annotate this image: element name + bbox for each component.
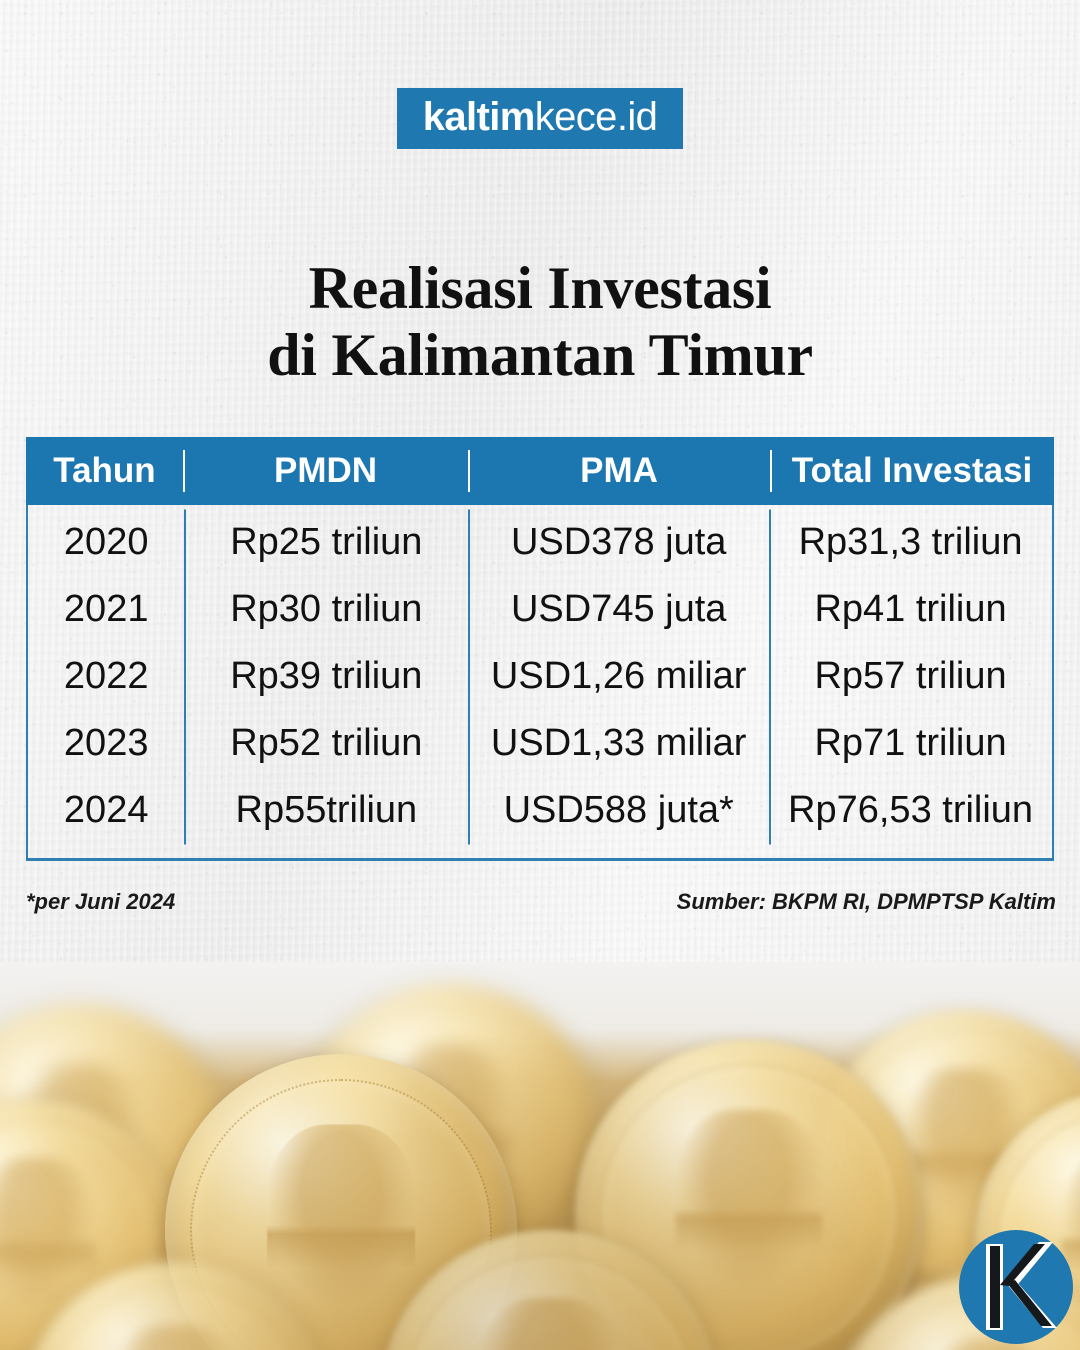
cell-pma: USD745 juta	[468, 588, 769, 631]
infographic-page: kaltimkece.id Realisasi Investasi di Kal…	[0, 0, 1080, 1350]
logo-text-bold: kaltim	[423, 95, 535, 139]
cell-pmdn: Rp52 triliun	[184, 722, 468, 765]
coin-emblem	[0, 1158, 96, 1309]
cell-pmdn: Rp39 triliun	[184, 655, 468, 698]
cell-total: Rp41 triliun	[769, 588, 1052, 631]
table-row: 2023 Rp52 triliun USD1,33 miliar Rp71 tr…	[28, 710, 1052, 777]
cell-total: Rp57 triliun	[769, 655, 1052, 698]
cell-tahun: 2023	[28, 722, 184, 765]
cell-tahun: 2021	[28, 588, 184, 631]
table-row: 2020 Rp25 triliun USD378 juta Rp31,3 tri…	[28, 509, 1052, 576]
source-text: Sumber: BKPM RI, DPMPTSP Kaltim	[677, 889, 1056, 915]
table-row: 2021 Rp30 triliun USD745 juta Rp41 trili…	[28, 576, 1052, 643]
cell-pmdn: Rp55triliun	[184, 789, 468, 832]
brand-logo[interactable]: kaltimkece.id	[0, 88, 1080, 149]
cell-tahun: 2022	[28, 655, 184, 698]
footnote-text: *per Juni 2024	[26, 889, 175, 915]
coin-emblem	[267, 1124, 415, 1307]
cell-total: Rp31,3 triliun	[769, 521, 1052, 564]
coin-emblem	[110, 1324, 240, 1350]
table-body: 2020 Rp25 triliun USD378 juta Rp31,3 tri…	[26, 505, 1054, 861]
page-title: Realisasi Investasi di Kalimantan Timur	[0, 255, 1080, 389]
cell-pma: USD588 juta*	[468, 789, 769, 832]
cell-total: Rp76,53 triliun	[769, 789, 1052, 832]
table-header-tahun: Tahun	[26, 451, 183, 491]
logo-badge[interactable]: kaltimkece.id	[397, 88, 684, 149]
table-notes: *per Juni 2024 Sumber: BKPM RI, DPMPTSP …	[26, 889, 1056, 915]
table-row: 2024 Rp55triliun USD588 juta* Rp76,53 tr…	[28, 777, 1052, 844]
investment-table: Tahun PMDN PMA Total Investasi 2020 Rp25…	[26, 437, 1054, 861]
cell-pmdn: Rp30 triliun	[184, 588, 468, 631]
cell-total: Rp71 triliun	[769, 722, 1052, 765]
coin-photograph	[0, 962, 1080, 1350]
cell-pma: USD378 juta	[468, 521, 769, 564]
table-header-total-investasi: Total Investasi	[770, 451, 1054, 491]
page-title-line-2: di Kalimantan Timur	[0, 322, 1080, 389]
cell-pmdn: Rp25 triliun	[184, 521, 468, 564]
coin-emblem	[479, 1298, 622, 1350]
table-row: 2022 Rp39 triliun USD1,26 miliar Rp57 tr…	[28, 643, 1052, 710]
logo-text: kaltimkece.id	[423, 95, 658, 139]
cell-pma: USD1,33 miliar	[468, 722, 769, 765]
kaltimkece-watermark	[957, 1228, 1075, 1346]
coin-emblem	[676, 1110, 822, 1291]
cell-pma: USD1,26 miliar	[468, 655, 769, 698]
cell-tahun: 2020	[28, 521, 184, 564]
table-header-pmdn: PMDN	[183, 451, 468, 491]
table-header-row: Tahun PMDN PMA Total Investasi	[26, 437, 1054, 505]
table-header-pma: PMA	[468, 451, 770, 491]
cell-tahun: 2024	[28, 789, 184, 832]
page-title-line-1: Realisasi Investasi	[0, 255, 1080, 322]
logo-text-light: kece.id	[535, 95, 658, 139]
